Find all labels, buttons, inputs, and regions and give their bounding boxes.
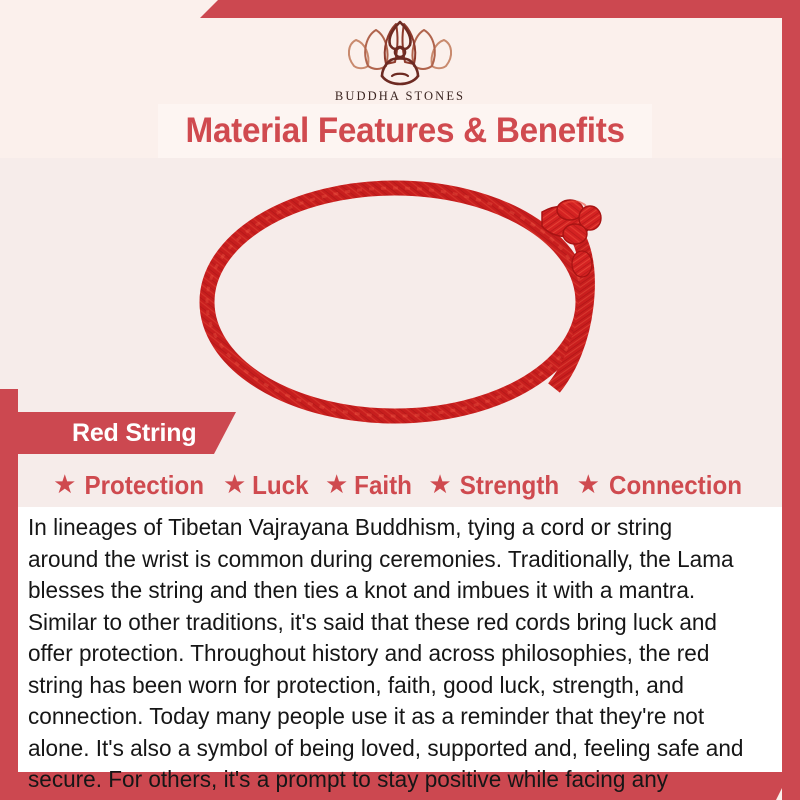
benefit-label-connection: Connection: [609, 470, 742, 501]
description-text: In lineages of Tibetan Vajrayana Buddhis…: [28, 512, 746, 800]
benefit-item: ★ Strength: [428, 470, 562, 501]
decorative-left-bar: [0, 389, 18, 800]
benefit-item: ★ Connection: [577, 470, 747, 501]
ribbon-label: Red String: [72, 419, 196, 448]
brand-name: BUDDHA STONES: [335, 89, 465, 104]
benefit-label-strength: Strength: [459, 470, 558, 501]
benefit-label-protection: Protection: [85, 470, 205, 501]
benefit-label-faith: Faith: [354, 470, 412, 501]
star-icon: ★: [577, 471, 600, 497]
title-banner: Material Features & Benefits: [158, 104, 652, 158]
star-icon: ★: [223, 471, 246, 497]
infographic-canvas: BUDDHA STONES Material Features & Benefi…: [0, 0, 800, 800]
lotus-meditation-icon: [338, 14, 462, 86]
benefits-row: ★ Protection ★ Luck ★ Faith ★ Strength ★…: [18, 464, 782, 506]
brand-logo: BUDDHA STONES: [0, 14, 800, 104]
red-string-bracelet-illustration: [150, 160, 670, 425]
benefit-item: ★ Luck: [223, 470, 311, 501]
ribbon-red-string: Red String: [18, 412, 236, 454]
product-image: [150, 160, 670, 425]
benefit-item: ★ Faith: [325, 470, 414, 501]
benefit-item: ★ Protection: [53, 470, 209, 501]
star-icon: ★: [325, 471, 348, 497]
star-icon: ★: [53, 471, 76, 497]
page-title: Material Features & Benefits: [185, 111, 624, 151]
decorative-right-bar: [782, 0, 800, 800]
star-icon: ★: [428, 471, 451, 497]
benefit-label-luck: Luck: [252, 470, 308, 501]
